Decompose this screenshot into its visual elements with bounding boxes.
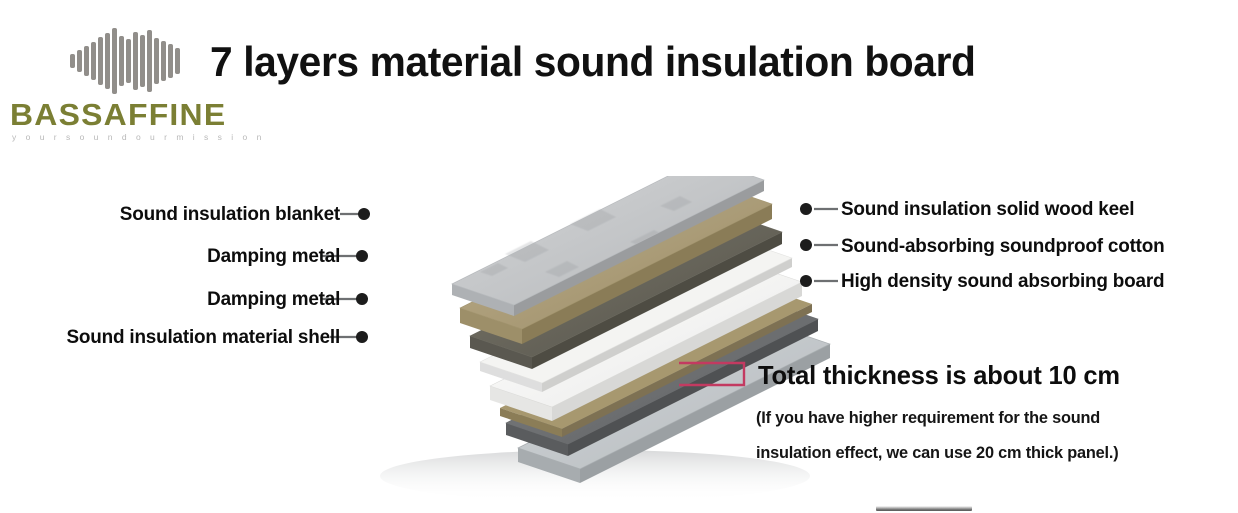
thickness-bracket-icon (678, 360, 746, 388)
callout-damping-metal-upper: Damping metal (207, 245, 340, 267)
callout-sound-insulation-material-shell: Sound insulation material shell (66, 326, 340, 348)
sound-wave-icon (68, 26, 183, 96)
brand-tagline: y o u r s o u n d o u r m i s s i o n (12, 132, 244, 142)
thickness-note-line-1: (If you have higher requirement for the … (756, 408, 1100, 428)
brand-wordmark: BASSAFFINE (10, 100, 249, 130)
callout-damping-metal-lower: Damping metal (207, 288, 340, 310)
callout-sound-insulation-blanket: Sound insulation blanket (120, 203, 340, 225)
page-title: 7 layers material sound insulation board (210, 38, 1083, 86)
callout-high-density-absorbing-board: High density sound absorbing board (841, 270, 1164, 292)
bottom-edge-artifact (876, 506, 972, 511)
sound-insulation-board-infographic: BASSAFFINE y o u r s o u n d o u r m i s… (0, 0, 1238, 513)
callout-soundproof-cotton: Sound-absorbing soundproof cotton (841, 235, 1165, 257)
callout-solid-wood-keel: Sound insulation solid wood keel (841, 198, 1134, 220)
thickness-note-line-2: insulation effect, we can use 20 cm thic… (756, 443, 1118, 463)
thickness-headline: Total thickness is about 10 cm (758, 360, 1120, 390)
